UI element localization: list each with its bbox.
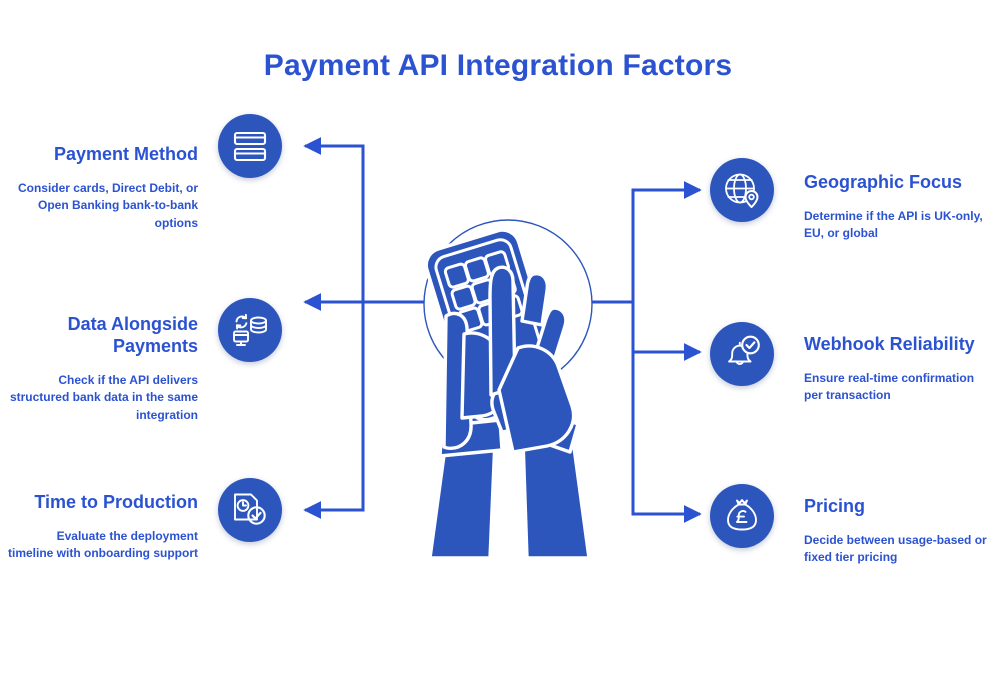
badge-geographic-focus[interactable]	[710, 158, 774, 222]
description-geographic-focus: Determine if the API is UK-only, EU, or …	[804, 208, 994, 243]
heading-data-alongside-payments: Data Alongside Payments	[8, 314, 198, 358]
heading-pricing: Pricing	[804, 496, 994, 518]
badge-data-alongside-payments[interactable]	[218, 298, 282, 362]
heading-webhook-reliability: Webhook Reliability	[804, 334, 994, 356]
infographic-canvas: Payment API Integration Factors	[0, 0, 996, 678]
document-clock-check-icon	[230, 490, 270, 530]
text-block-time-to-production: Time to Production Evaluate the deployme…	[8, 492, 198, 563]
badge-time-to-production[interactable]	[218, 478, 282, 542]
data-sync-database-monitor-icon	[230, 310, 270, 350]
globe-location-pin-icon	[722, 170, 762, 210]
text-block-data-alongside-payments: Data Alongside Payments Check if the API…	[8, 314, 198, 424]
money-bag-pound-icon	[723, 497, 761, 535]
page-title: Payment API Integration Factors	[0, 48, 996, 84]
description-payment-method: Consider cards, Direct Debit, or Open Ba…	[8, 180, 198, 232]
text-block-payment-method: Payment Method Consider cards, Direct De…	[8, 144, 198, 232]
badge-webhook-reliability[interactable]	[710, 322, 774, 386]
description-webhook-reliability: Ensure real-time confirmation per transa…	[804, 370, 994, 405]
heading-geographic-focus: Geographic Focus	[804, 172, 994, 194]
stacked-payment-cards-icon	[231, 127, 269, 165]
badge-pricing[interactable]	[710, 484, 774, 548]
heading-payment-method: Payment Method	[8, 144, 198, 166]
description-time-to-production: Evaluate the deployment timeline with on…	[8, 528, 198, 563]
description-data-alongside-payments: Check if the API delivers structured ban…	[8, 372, 198, 424]
bell-check-icon	[722, 334, 762, 374]
heading-time-to-production: Time to Production	[8, 492, 198, 514]
description-pricing: Decide between usage-based or fixed tier…	[804, 532, 994, 567]
badge-payment-method[interactable]	[218, 114, 282, 178]
text-block-webhook-reliability: Webhook Reliability Ensure real-time con…	[804, 334, 994, 405]
hands-holding-payment-keypad-illustration	[402, 212, 618, 560]
text-block-pricing: Pricing Decide between usage-based or fi…	[804, 496, 994, 567]
text-block-geographic-focus: Geographic Focus Determine if the API is…	[804, 172, 994, 243]
